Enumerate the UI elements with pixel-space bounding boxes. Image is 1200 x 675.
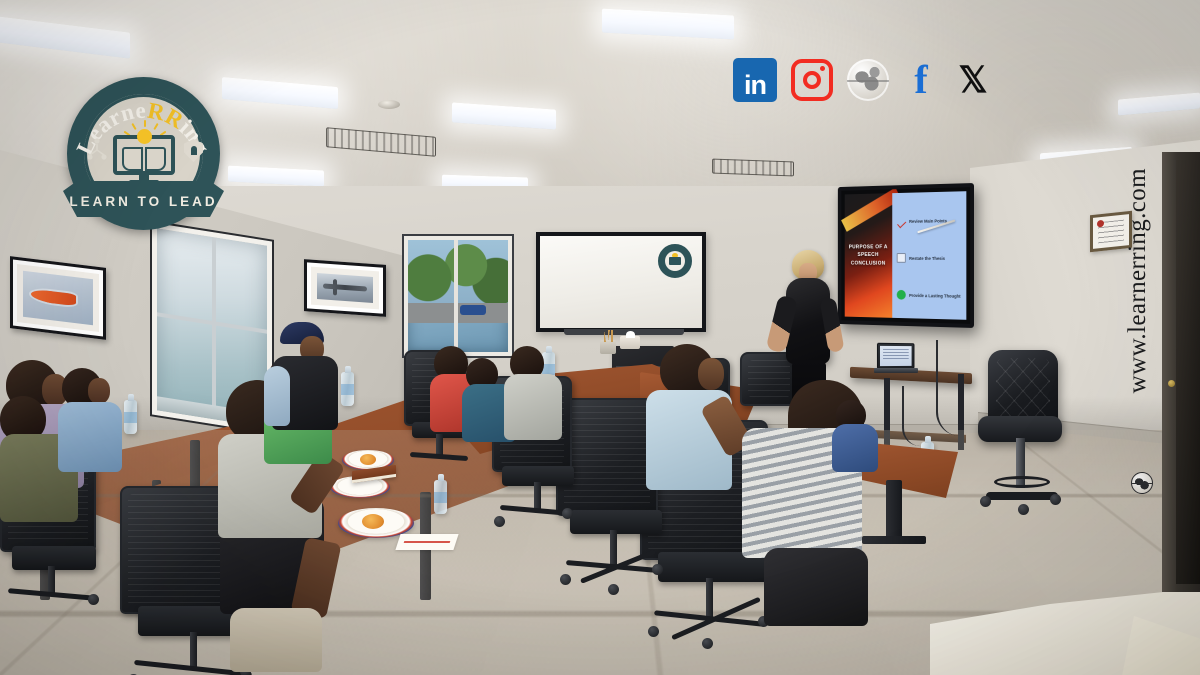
power-cable [902, 386, 920, 446]
classroom-photo: PURPOSE OF A SPEECH CONCLUSION Review Ma… [0, 0, 1200, 675]
x-twitter-icon[interactable]: 𝕏 [953, 58, 993, 102]
slide-bullet-label: Provide a Lasting Thought [909, 292, 961, 298]
window-greenery [408, 240, 508, 303]
window-car [460, 305, 486, 315]
website-globe-icon[interactable] [847, 59, 889, 101]
slide-bullet-panel: Review Main Points Restate the Thesis Pr… [892, 191, 966, 320]
whiteboard [536, 232, 706, 332]
slide-title-panel: PURPOSE OF A SPEECH CONCLUSION [845, 193, 892, 318]
chair-footring [994, 476, 1050, 488]
sun-ray [131, 122, 136, 129]
chair-caster [980, 496, 991, 507]
slide-bullet-label: Restate the Thesis [909, 256, 945, 261]
instagram-lens [803, 71, 821, 89]
food-item [360, 454, 376, 465]
window-mullion [454, 240, 458, 352]
student [58, 368, 132, 476]
tissue-box [620, 336, 640, 349]
student-face [88, 378, 110, 404]
student-shorts [230, 608, 322, 672]
chair-caster [652, 564, 663, 575]
linkedin-icon[interactable]: in [733, 58, 777, 102]
facebook-icon[interactable]: f [903, 58, 939, 102]
student-torso [58, 402, 122, 472]
leather-drafting-chair [978, 350, 1064, 525]
chair-caster [562, 508, 573, 519]
linkedin-label: in [744, 73, 766, 99]
globe-icon [1131, 472, 1153, 494]
student-torso [832, 424, 878, 472]
adult-with-cap [272, 322, 348, 430]
student [504, 346, 566, 440]
checkmark-icon [896, 217, 905, 227]
badge-tagline: LEARN TO LEAD [69, 194, 217, 209]
laptop-lid [877, 343, 915, 369]
exterior-window [404, 236, 512, 356]
framed-osprey-photo [304, 259, 386, 317]
learnerring-logo-badge: LearneRRing LEARN TO LEAD [67, 77, 220, 230]
power-cable [936, 340, 960, 436]
chair-caster [88, 594, 99, 605]
book-right-page [145, 147, 166, 171]
chair-caster [494, 516, 505, 527]
website-url-vertical: www.learnerring.com [1118, 168, 1158, 468]
sun-ray [153, 122, 158, 129]
slide-bullet: Restate the Thesis [896, 253, 961, 263]
website-url-text: www.learnerring.com [1124, 168, 1152, 393]
document-icon [896, 254, 905, 264]
whiteboard-logo [658, 244, 692, 278]
chair-gas-cylinder [190, 632, 197, 668]
chair-caster [702, 638, 713, 649]
instagram-icon[interactable] [791, 59, 833, 101]
slide-title-line-3: CONCLUSION [849, 259, 888, 267]
door-knob[interactable] [1168, 380, 1175, 387]
tv-screen: PURPOSE OF A SPEECH CONCLUSION Review Ma… [845, 191, 967, 320]
laptop-keyboard-base [874, 368, 918, 373]
laptop-screen [880, 346, 912, 366]
chair-gas-cylinder [706, 578, 713, 620]
book-left-page [122, 147, 143, 171]
facebook-label: f [914, 60, 927, 100]
slide-bullet: Provide a Lasting Thought [896, 290, 961, 301]
chair-caster [1050, 494, 1061, 505]
pencil-cup [600, 340, 616, 354]
green-dot-icon [896, 290, 905, 300]
slide-title-line-1: PURPOSE OF A [849, 244, 888, 252]
doorway[interactable] [1176, 160, 1200, 584]
student [646, 344, 738, 494]
wall-mounted-tv: PURPOSE OF A SPEECH CONCLUSION Review Ma… [838, 183, 974, 328]
laptop [874, 343, 918, 373]
chair-caster [608, 584, 619, 595]
napkin [395, 534, 458, 550]
adult-shirt [264, 366, 290, 426]
food-item [362, 514, 384, 529]
student [832, 400, 884, 470]
chair-gas-cylinder [610, 530, 617, 568]
open-book-icon [122, 147, 166, 171]
whiteboard-logo-mark [665, 251, 685, 271]
student-shorts [764, 548, 868, 626]
monitor-icon [113, 125, 175, 183]
social-media-bar: in f 𝕏 [733, 56, 995, 104]
smoke-detector [378, 100, 400, 109]
chair-caster [560, 574, 571, 585]
x-label: 𝕏 [958, 62, 987, 98]
chair-base [986, 492, 1058, 500]
window-road [408, 303, 508, 323]
badge-tagline-ribbon: LEARN TO LEAD [63, 181, 224, 221]
slide-title: PURPOSE OF A SPEECH CONCLUSION [849, 244, 888, 267]
water-bottle [434, 480, 447, 514]
table-pedestal [886, 480, 902, 542]
chair-base-arm [410, 452, 468, 461]
podium-leg [884, 378, 890, 450]
sun-icon [137, 129, 152, 144]
ceiling-air-vent [712, 159, 794, 177]
student-torso [504, 374, 562, 440]
node-icon [86, 137, 108, 163]
student-face [698, 358, 724, 390]
helicopter-artwork [23, 271, 93, 326]
whiteboard-marker-tray [564, 329, 684, 335]
window-mullion [212, 237, 216, 420]
framed-helicopter-photo [10, 256, 106, 340]
instagram-flash-dot [820, 66, 825, 71]
chair-caster [648, 626, 659, 637]
osprey-artwork [317, 273, 373, 303]
chair-caster [1018, 504, 1029, 515]
slide-title-line-2: SPEECH [849, 252, 888, 260]
sun-ray [144, 120, 146, 127]
